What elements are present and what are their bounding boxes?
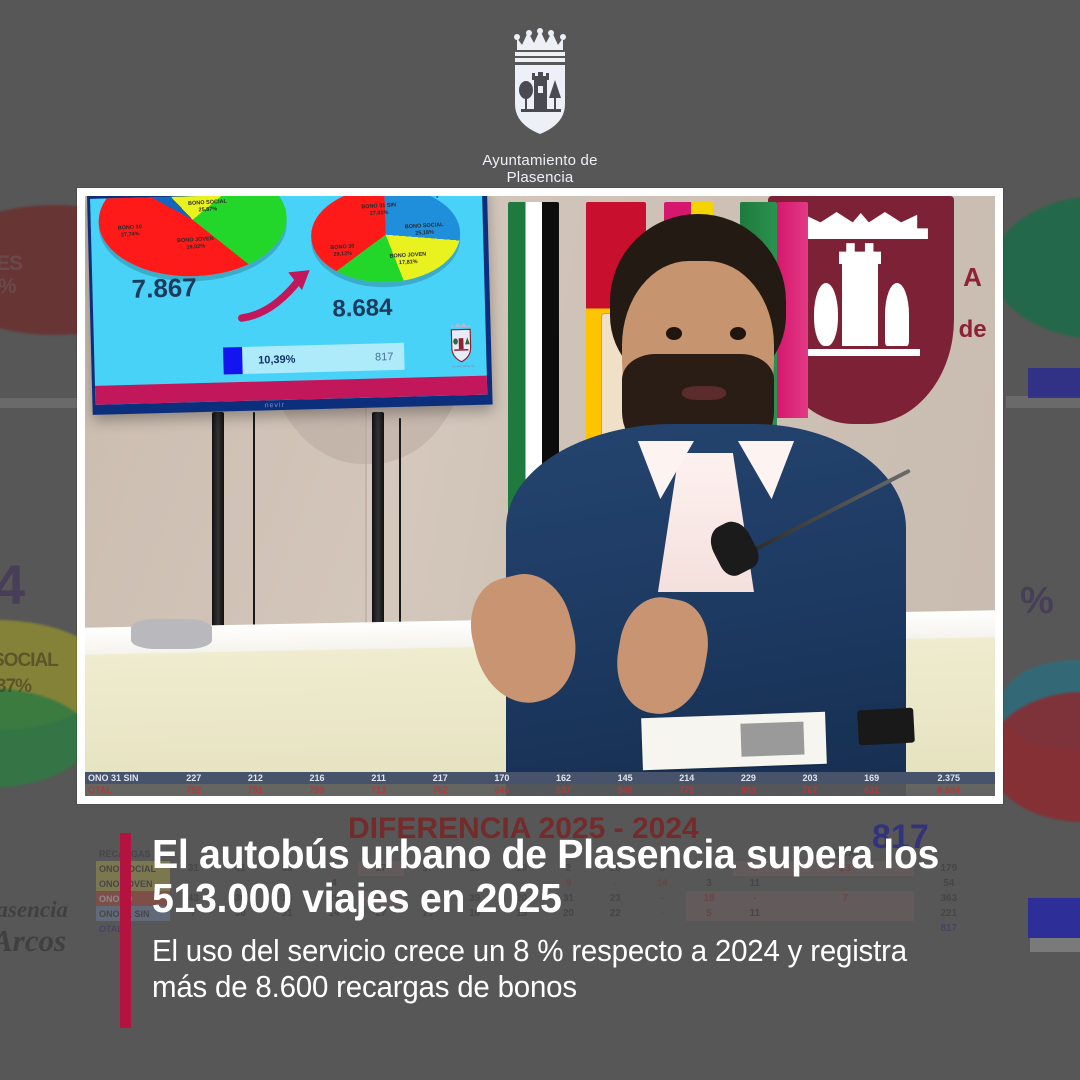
brand-caption-line-2: Plasencia [0,169,1080,186]
bg-pie-green [992,195,1080,340]
bg-social-label: SOCIAL [0,650,58,672]
slide-total-2024: 7.867 [131,272,197,305]
kpi-percent-value: 10,39% [258,353,296,366]
slide-kpi-bar: 10,39% 817 [223,343,404,374]
presentation-slide: 2024 BONO 30 27,74% BONO SOCIAL 25,87% B… [90,196,488,405]
monitor-brand-label: nevir [264,402,284,410]
row-label: ONO 31 SIN [85,772,163,784]
pie-2024-label-bonojoven: BONO JOVEN 19,02% [177,236,214,252]
bg-script-line-1: Plasencia [0,897,68,923]
page-subtitle: El uso del servicio crece un 8 % respect… [152,933,939,1005]
brand-caption: Ayuntamiento de Plasencia [0,152,1080,187]
desk-papers [641,711,827,770]
slide-total-2025: 8.684 [332,294,393,324]
growth-arrow-icon [229,265,332,325]
svg-text:Ayuntamiento de: Ayuntamiento de [451,364,475,369]
microphone-base [131,619,213,649]
bg-legend-swatch-bottom [1028,898,1080,938]
slide-bottom-bar [95,376,488,405]
press-photo-card: yuntamiento e Plasencia A de 2024 BONO 3… [77,188,1003,804]
presentation-monitor: 2024 BONO 30 27,74% BONO SOCIAL 25,87% B… [87,196,493,415]
table-row: ONO 31 SIN 227 212 216 211 217 170 162 1… [85,772,995,784]
person-mouth [682,386,726,400]
bg-pie-darkred-label-2: % [0,275,16,299]
bg-legend-swatch-top [1028,368,1080,398]
pie-2025-label-bonojoven: BONO JOVEN 17,81% [389,251,426,267]
pie-2024-label-bonosocial: BONO SOCIAL 25,87% [188,199,228,215]
bg-stripe-right-2 [1030,938,1080,952]
brand-header: Ayuntamiento de Plasencia [0,28,1080,187]
monthly-totals-table: ONO 31 SIN 227 212 216 211 217 170 162 1… [85,772,995,796]
plasencia-coat-of-arms-icon [485,28,595,146]
page-title: El autobús urbano de Plasencia supera lo… [152,833,947,921]
slide-crest-icon: Ayuntamiento de [446,319,479,373]
tv-stand-pole-left [212,412,224,628]
pie-2025-label-bono31: BONO 31 SIN 27,01% [361,203,397,219]
bg-percent-symbol: % [1020,580,1053,623]
press-conference-photo: yuntamiento e Plasencia A de 2024 BONO 3… [85,196,995,796]
row-label: OTAL [85,784,163,796]
caption-block: El autobús urbano de Plasencia supera lo… [120,833,980,1005]
accent-bar [120,833,131,1028]
pie-2025-label-bonosocial: BONO SOCIAL 25,18% [404,222,444,238]
bg-social-pct: 37% [0,676,31,698]
tv-stand-pole-right [372,412,384,628]
brand-caption-line-1: Ayuntamiento de [0,152,1080,169]
bg-script-line-2: Arcos [0,923,66,959]
kpi-absolute-value: 817 [375,351,394,363]
pie-2024-label-bono30: BONO 30 27,74% [118,224,143,239]
bg-year-fragment: 4 [0,552,24,617]
backdrop-red-word: de [959,316,987,344]
speaker-person [522,214,922,796]
table-row: OTAL 792 751 759 713 762 646 637 548 775… [85,784,995,796]
kpi-color-swatch [223,347,242,374]
tv-cable-right [399,418,401,628]
pie-2025-label-bono30: BONO 30 29,12% [330,243,355,258]
bg-pie-darkred-label-1: ES [0,252,22,276]
desk-phone [857,707,915,745]
backdrop-red-letter: A [963,262,982,293]
